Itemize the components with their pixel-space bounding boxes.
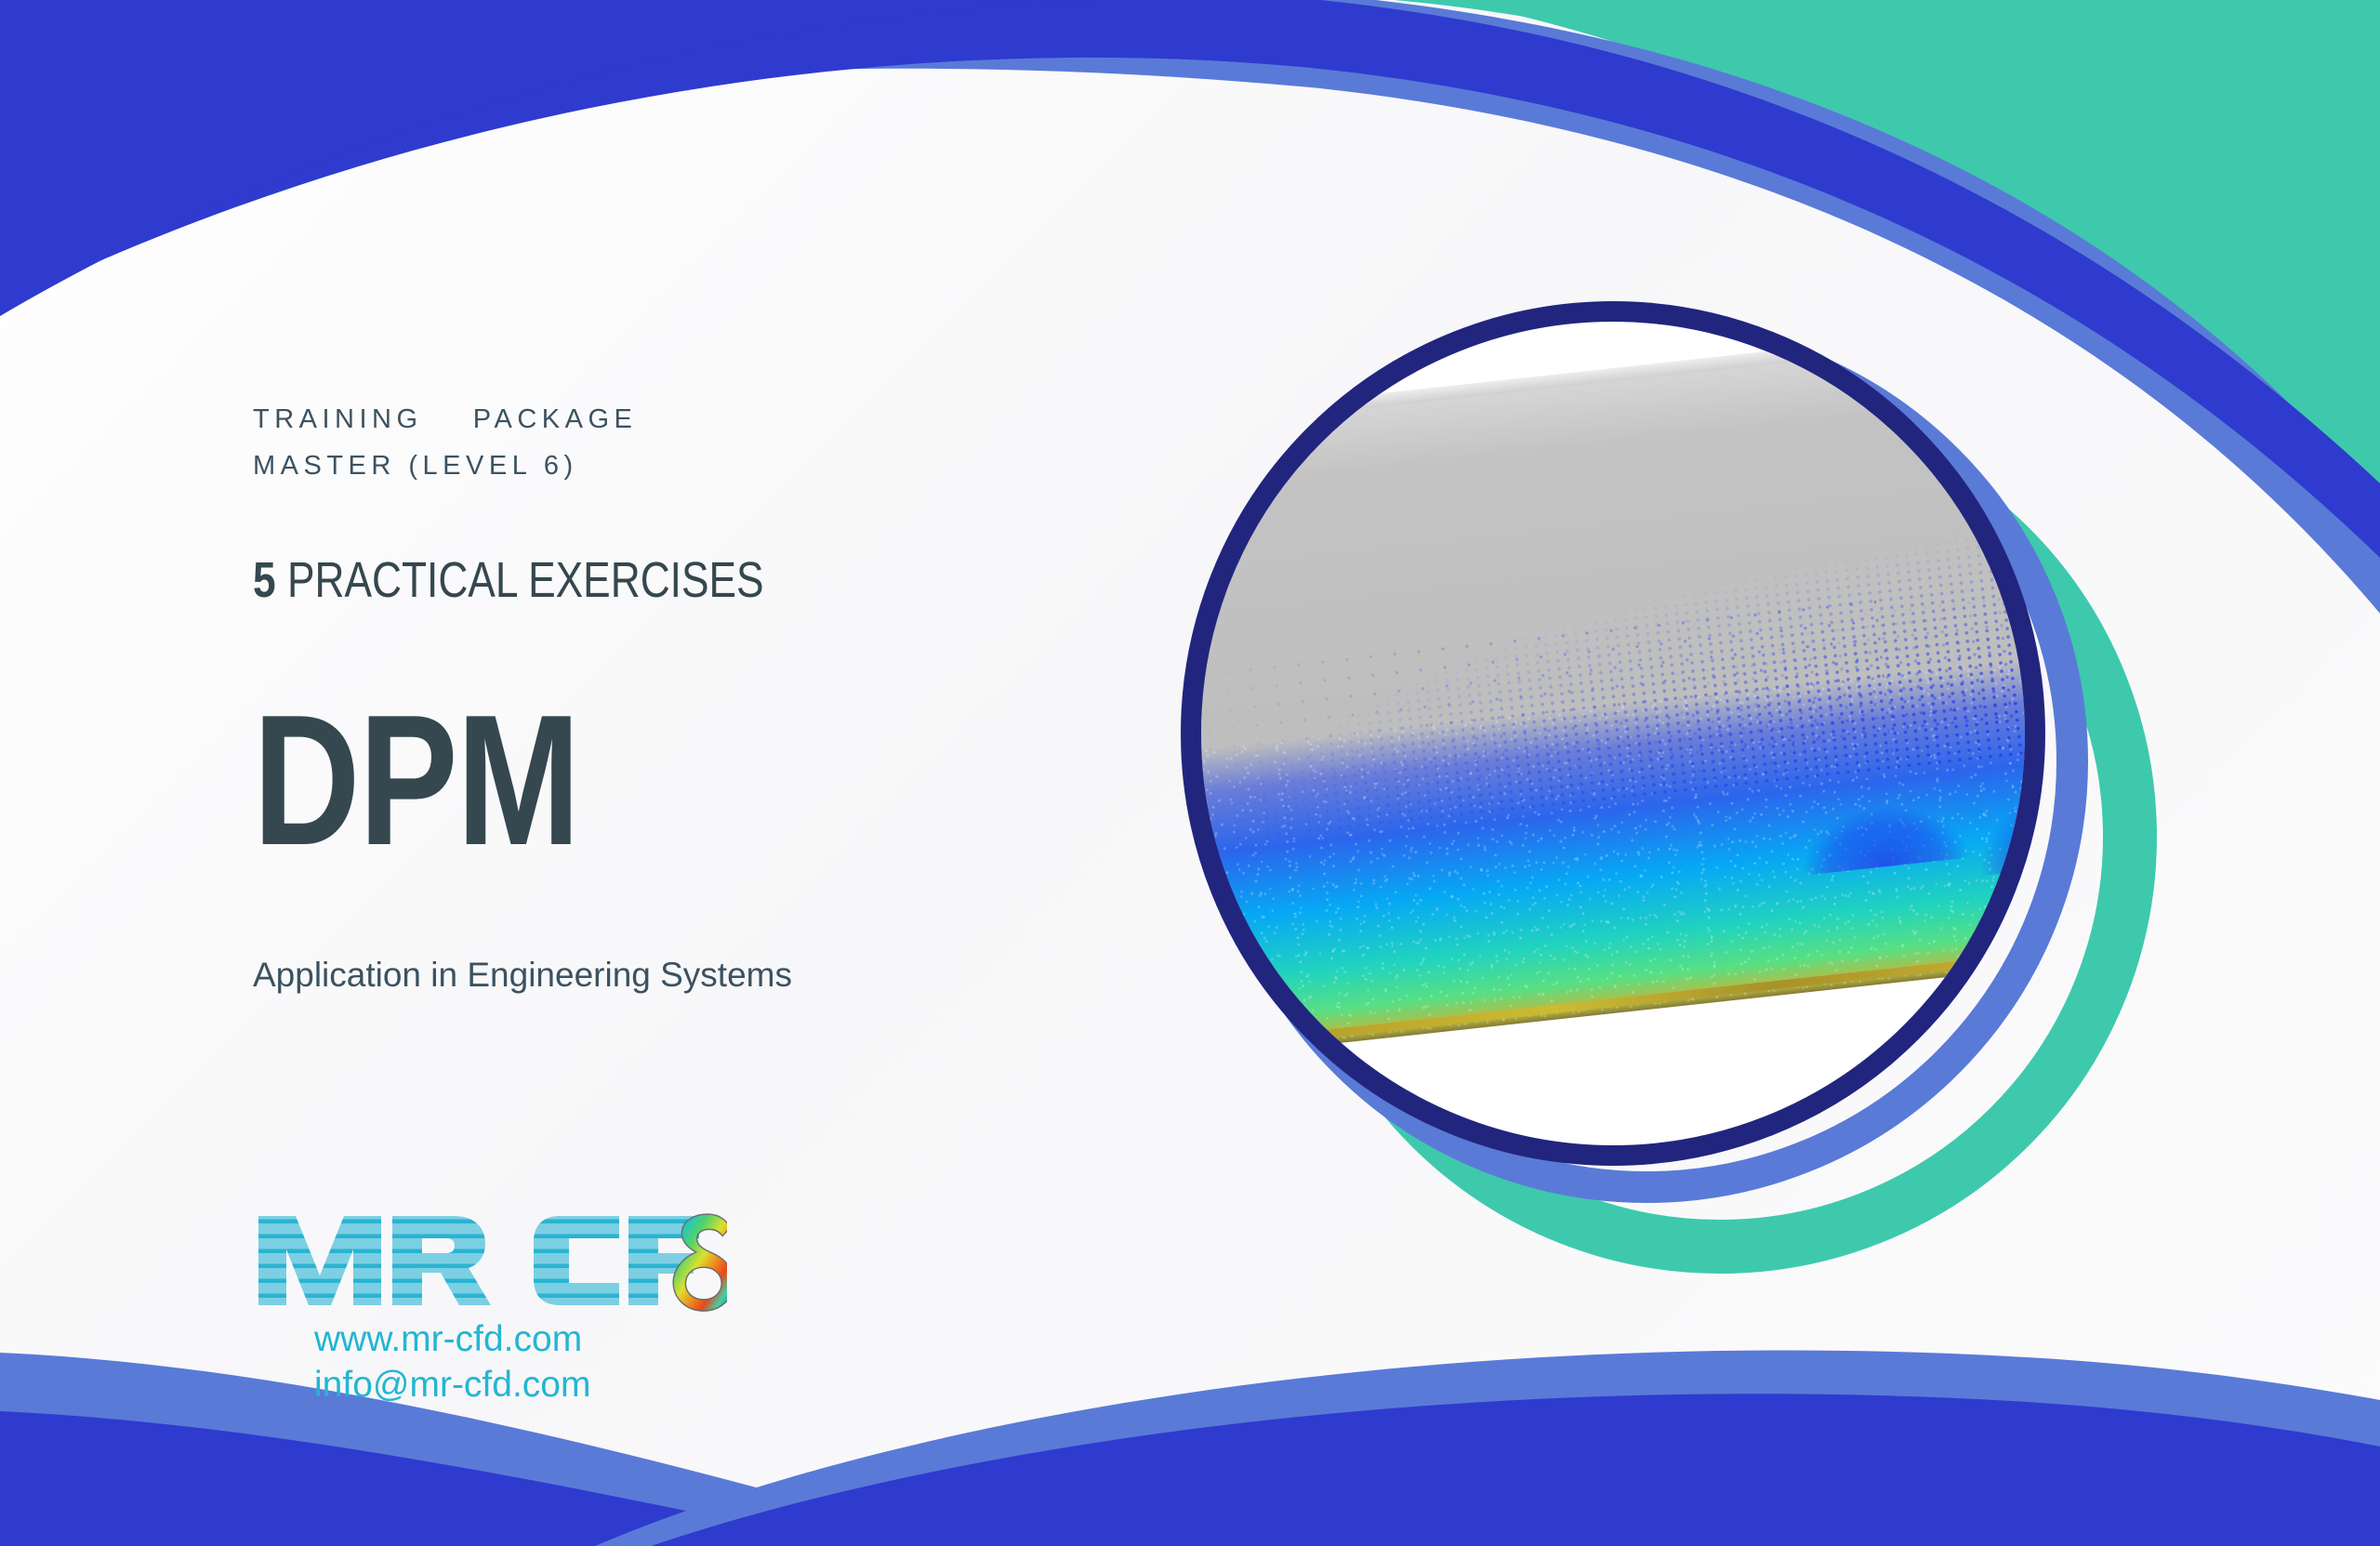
website-link[interactable]: www.mr-cfd.com	[314, 1316, 773, 1362]
brand-contact[interactable]: www.mr-cfd.com info@mr-cfd.com	[253, 1316, 773, 1407]
cover-canvas: TRAINING PACKAGEMASTER (LEVEL 6) 5 PRACT…	[0, 0, 2380, 1546]
exercise-count-line: 5 PRACTICAL EXERCISES	[253, 552, 764, 608]
page-title: DPM	[253, 688, 579, 874]
page-subtitle: Application in Engineering Systems	[253, 953, 792, 998]
bottom-blue-band	[651, 1394, 2380, 1546]
bottom-right-teal-band	[1097, 1487, 2380, 1546]
eyebrow-line-2: MASTER (LEVEL 6)	[253, 451, 578, 481]
brand-logo-block[interactable]: www.mr-cfd.com info@mr-cfd.com	[253, 1209, 773, 1407]
mr-cfd-logo-icon	[253, 1209, 727, 1313]
eyebrow-text: TRAINING PACKAGEMASTER (LEVEL 6)	[253, 396, 637, 489]
eyebrow-line-1: TRAINING PACKAGE	[253, 404, 637, 434]
artwork-ring-navy	[1181, 301, 2045, 1166]
mr-cfd-wordmark	[253, 1209, 727, 1311]
exercise-count-label: PRACTICAL EXERCISES	[276, 552, 764, 608]
bottom-periwinkle-band	[595, 1350, 2380, 1546]
top-left-blue-fill	[0, 0, 1097, 316]
cfd-artwork	[1144, 270, 2185, 1311]
bottom-left-blue-wedge	[0, 1411, 855, 1546]
email-link[interactable]: info@mr-cfd.com	[314, 1362, 773, 1407]
wordmark-letters	[258, 1216, 699, 1305]
exercise-count-number: 5	[253, 552, 276, 608]
